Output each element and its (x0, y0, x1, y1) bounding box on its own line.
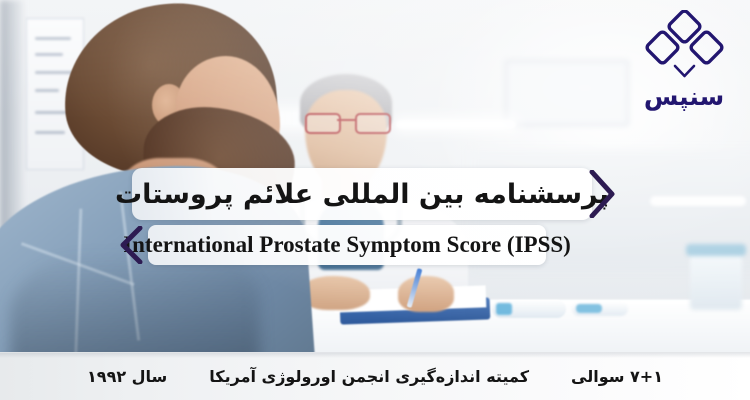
persian-title-banner: پرسشنامه بین المللی علائم پروستات (118, 168, 618, 220)
medical-device-right-band (576, 304, 602, 313)
page-title-fa: پرسشنامه بین المللی علائم پروستات (109, 179, 615, 210)
english-title-banner: International Prostate Symptom Score (IP… (118, 225, 618, 267)
doctor-red-glasses (303, 113, 391, 130)
ipss-hero-banner: سنپس پرسشنامه بین المللی علائم پروستات I… (0, 0, 750, 400)
background-jar (690, 250, 742, 310)
chevron-left-icon (118, 226, 146, 264)
background-jar-lid (686, 244, 746, 256)
chevron-right-icon (588, 170, 618, 218)
background-shelf-box (505, 60, 629, 126)
page-title-en: International Prostate Symptom Score (IP… (123, 232, 571, 258)
doctor-writing-hand (398, 276, 454, 312)
brand-logo[interactable]: سنپس (634, 10, 734, 118)
footer-meta-bar: ۷+۱ سوالی کمیته اندازه‌گیری انجمن اورولو… (0, 352, 750, 400)
four-diamond-logo-icon (642, 10, 726, 82)
background-light-bar (650, 196, 746, 206)
footer-item-question-count: ۷+۱ سوالی (571, 367, 663, 386)
title-block: پرسشنامه بین المللی علائم پروستات Intern… (118, 168, 618, 267)
medical-device-left-tip (496, 303, 512, 315)
ceiling-light-strip-secondary (396, 120, 516, 129)
logo-wordmark: سنپس (634, 84, 734, 109)
footer-item-year: سال ۱۹۹۲ (87, 367, 167, 386)
footer-item-source-organization: کمیته اندازه‌گیری انجمن اورولوژی آمریکا (209, 367, 529, 386)
